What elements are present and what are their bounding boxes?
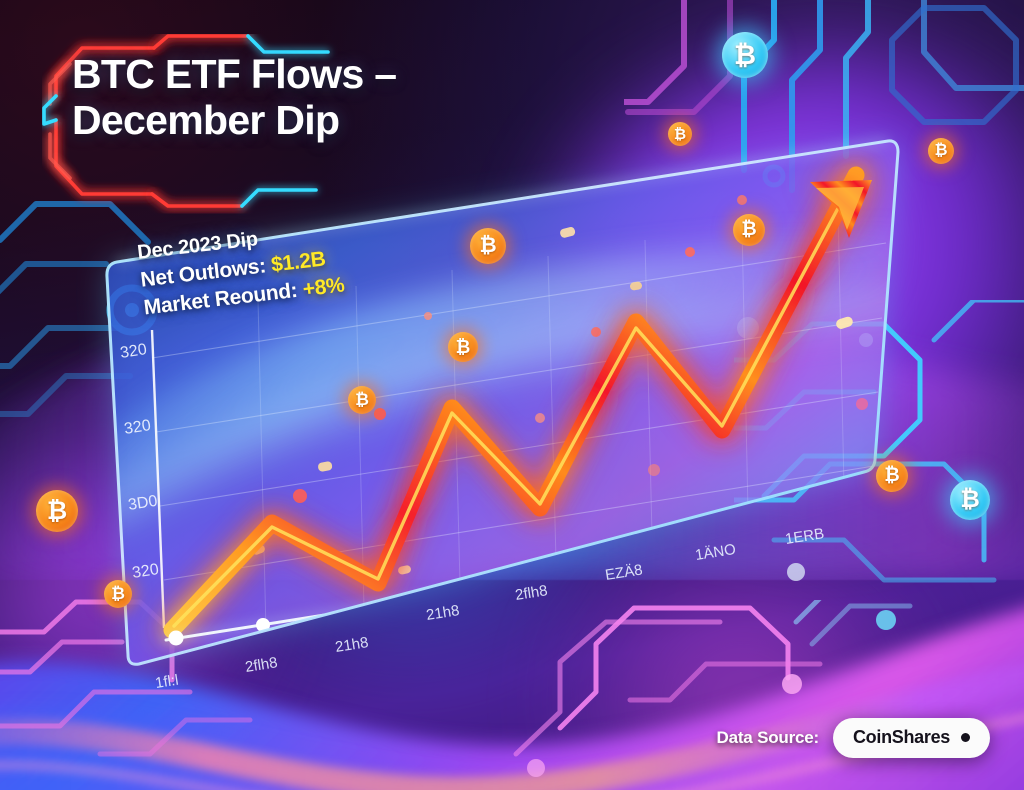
btc-coin-icon: ₿ bbox=[104, 580, 132, 608]
svg-text:1fl:l: 1fl:l bbox=[154, 672, 180, 692]
bullet-dot-icon bbox=[961, 733, 970, 742]
svg-text:2flh8: 2flh8 bbox=[244, 654, 279, 676]
data-source-pill[interactable]: CoinShares bbox=[833, 718, 990, 758]
svg-text:EZÄ8: EZÄ8 bbox=[604, 561, 644, 584]
market-rebound-value: +8% bbox=[301, 273, 345, 301]
btc-coin-icon: ₿ bbox=[448, 332, 478, 362]
svg-text:1ÄNO: 1ÄNO bbox=[694, 541, 737, 564]
title-block: BTC ETF Flows – December Dip bbox=[72, 52, 396, 144]
title-line-2: December Dip bbox=[72, 98, 396, 144]
svg-text:21h8: 21h8 bbox=[425, 602, 461, 624]
page-title: BTC ETF Flows – December Dip bbox=[72, 52, 396, 144]
data-source-label: Data Source: bbox=[717, 728, 819, 748]
title-line-1: BTC ETF Flows – bbox=[72, 52, 396, 98]
btc-coin-icon: ₿ bbox=[348, 386, 376, 414]
poster-canvas: 320 320 3D0 320 1fl:l 2flh8 21h8 21h8 2f… bbox=[0, 0, 1024, 790]
btc-coin-icon: ₿ bbox=[470, 228, 506, 264]
btc-coin-icon: ₿ bbox=[36, 490, 78, 532]
svg-text:21h8: 21h8 bbox=[334, 634, 370, 656]
data-source-footer: Data Source: CoinShares bbox=[717, 718, 991, 758]
btc-coin-icon: ₿ bbox=[733, 214, 765, 246]
net-outflows-value: $1.2B bbox=[270, 247, 327, 276]
svg-text:2flh8: 2flh8 bbox=[514, 582, 549, 604]
data-source-name: CoinShares bbox=[853, 727, 950, 748]
svg-text:1ERB: 1ERB bbox=[784, 525, 825, 548]
btc-coin-icon: ₿ bbox=[928, 138, 954, 164]
btc-coin-icon: ₿ bbox=[950, 480, 990, 520]
btc-coin-icon: ₿ bbox=[668, 122, 692, 146]
btc-coin-icon: ₿ bbox=[876, 460, 908, 492]
btc-coin-icon: ₿ bbox=[722, 32, 768, 78]
